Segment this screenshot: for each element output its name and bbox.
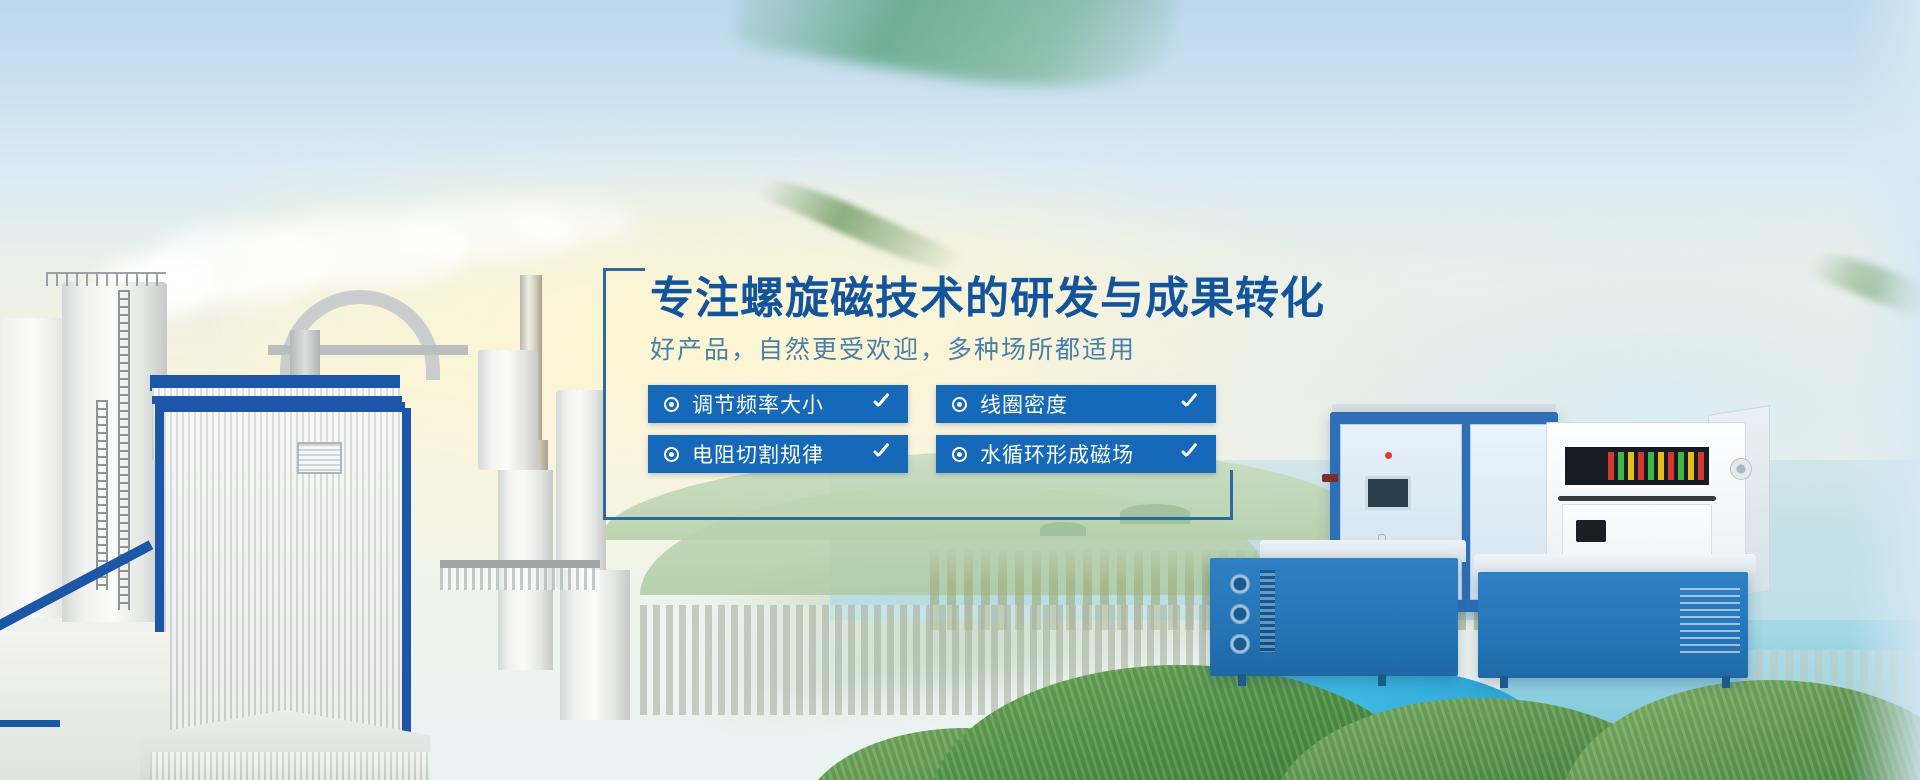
- industrial-factory-photo: [0, 140, 640, 780]
- shed-trim: [0, 720, 60, 727]
- oven-door-handle: [1558, 496, 1716, 501]
- bracket-bottom-line: [603, 517, 1233, 520]
- radio-dot-icon: [664, 397, 679, 412]
- fan-icon: [1230, 634, 1250, 654]
- page-subtitle: 好产品，自然更受欢迎，多种场所都适用: [650, 330, 1136, 366]
- check-icon: [870, 393, 892, 415]
- catwalk-grid: [440, 568, 600, 590]
- machine-leg: [1500, 676, 1508, 688]
- tank: [560, 570, 630, 720]
- feature-tag[interactable]: 调节频率大小: [648, 385, 908, 423]
- feature-tag[interactable]: 电阻切割规律: [648, 435, 908, 473]
- check-icon: [870, 443, 892, 465]
- check-icon: [1178, 443, 1200, 465]
- catwalk: [440, 560, 600, 568]
- bracket-right-line: [1230, 470, 1233, 520]
- check-icon: [1178, 393, 1200, 415]
- feature-tag-list: 调节频率大小 线圈密度 电阻切割规律 水循环形成磁场: [648, 385, 1268, 473]
- islet: [1120, 504, 1190, 524]
- indicator-lights: [1608, 452, 1704, 480]
- feature-tag-label: 电阻切割规律: [692, 439, 862, 469]
- tank: [478, 350, 538, 470]
- page-title: 专注螺旋磁技术的研发与成果转化: [650, 262, 1325, 326]
- feature-tag-label: 调节频率大小: [692, 389, 862, 419]
- islet: [1040, 522, 1086, 536]
- industrial-machines-photo: [1210, 412, 1770, 692]
- cabinet-display-screen: [1365, 476, 1411, 510]
- bracket-top-line: [603, 268, 645, 271]
- feature-tag[interactable]: 水循环形成磁场: [936, 435, 1216, 473]
- oven-small-display: [1576, 520, 1606, 542]
- feature-tag-label: 水循环形成磁场: [980, 439, 1170, 469]
- smoke-plume: [505, 198, 635, 246]
- machine-leg: [1722, 676, 1730, 688]
- feature-tag[interactable]: 线圈密度: [936, 385, 1216, 423]
- machine-leg: [1238, 674, 1246, 686]
- building-trim: [155, 402, 405, 412]
- window: [297, 442, 342, 474]
- power-led: [1385, 452, 1392, 459]
- fan-icon: [1730, 458, 1752, 480]
- fan-icon: [1230, 574, 1250, 594]
- building-trim: [402, 408, 411, 770]
- machine-leg: [1378, 674, 1386, 686]
- radio-dot-icon: [664, 447, 679, 462]
- vent-grille: [1260, 570, 1275, 652]
- silo-railing: [46, 272, 166, 286]
- vent-grille: [1680, 588, 1740, 658]
- radio-dot-icon: [952, 397, 967, 412]
- right-edge-fade: [1850, 0, 1920, 780]
- fan-icon: [1230, 604, 1250, 624]
- feature-tag-label: 线圈密度: [980, 389, 1170, 419]
- cabinet-connector: [1322, 474, 1338, 482]
- shed-wall: [150, 752, 430, 780]
- bracket-left-line: [603, 268, 606, 520]
- cooling-unit-top: [1474, 554, 1756, 574]
- hero-banner: 专注螺旋磁技术的研发与成果转化 好产品，自然更受欢迎，多种场所都适用 调节频率大…: [0, 0, 1920, 780]
- radio-dot-icon: [952, 447, 967, 462]
